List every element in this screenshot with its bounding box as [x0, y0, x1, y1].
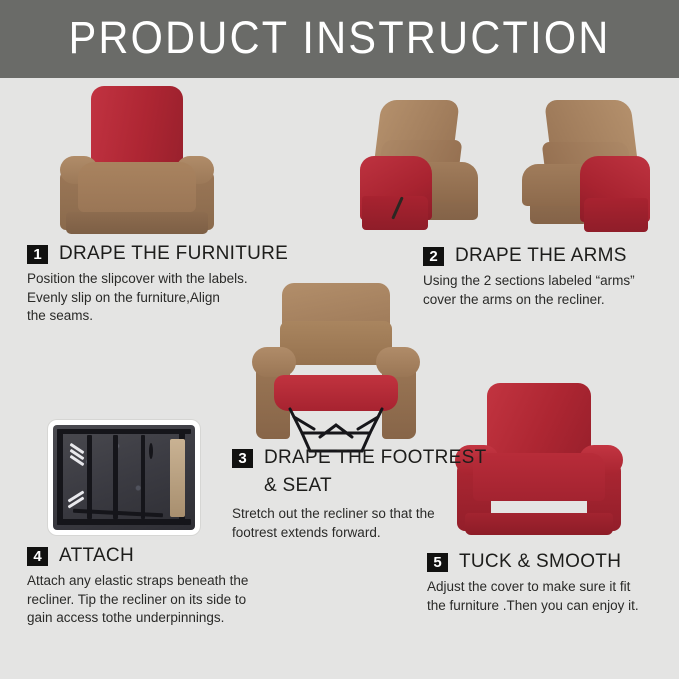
step-title-line2: & SEAT — [264, 475, 502, 497]
recliner-arm-right — [376, 347, 420, 377]
body-line: gain access tothe underpinnings. — [27, 609, 337, 628]
step-4-body: Attach any elastic straps beneath the re… — [27, 572, 337, 628]
step-2-illustration — [360, 100, 660, 235]
body-line: Using the 2 sections labeled “arms” — [423, 272, 673, 291]
frame-bar — [57, 519, 191, 525]
step-3-heading: 3 DRAPE THE FOOTREST — [232, 447, 502, 469]
step-2-body: Using the 2 sections labeled “arms” cove… — [423, 272, 673, 309]
recliner-right — [508, 100, 653, 235]
poster-header: PRODUCT INSTRUCTION — [0, 0, 679, 78]
body-line: the furniture .Then you can enjoy it. — [427, 597, 677, 616]
frame-bar — [87, 435, 92, 519]
red-seat-footrest-cover — [274, 375, 398, 411]
step-3-illustration — [252, 283, 420, 455]
step-title: DRAPE THE FOOTREST — [264, 447, 487, 469]
recliner-arm-left — [252, 347, 296, 377]
red-arm-cover-lower — [584, 198, 648, 232]
recliner-lumbar — [280, 321, 392, 365]
body-line: footrest extends forward. — [232, 524, 502, 543]
step-title: DRAPE THE FURNITURE — [59, 243, 288, 265]
step-3-block: 3 DRAPE THE FOOTREST & SEAT Stretch out … — [232, 447, 502, 542]
frame-bar — [57, 429, 191, 434]
wooden-rail — [170, 439, 185, 517]
step-2-block: 2 DRAPE THE ARMS Using the 2 sections la… — [423, 245, 673, 309]
step-number-badge: 2 — [423, 247, 444, 266]
body-line: Attach any elastic straps beneath the — [27, 572, 337, 591]
step-number-badge: 5 — [427, 553, 448, 572]
body-line: cover the arms on the recliner. — [423, 291, 673, 310]
step-title: DRAPE THE ARMS — [455, 245, 627, 267]
bolt — [149, 443, 153, 459]
body-line: recliner. Tip the recliner on its side t… — [27, 591, 337, 610]
step-5-heading: 5 TUCK & SMOOTH — [427, 551, 677, 573]
step-4-block: 4 ATTACH Attach any elastic straps benea… — [27, 545, 337, 628]
recliner-underside-photo — [53, 425, 195, 530]
frame-bar — [113, 435, 118, 519]
step-5-block: 5 TUCK & SMOOTH Adjust the cover to make… — [427, 551, 677, 615]
step-4-illustration — [48, 420, 200, 535]
body-line: Stretch out the recliner so that the — [232, 505, 502, 524]
step-1-illustration — [60, 86, 214, 236]
frame-bar — [57, 429, 63, 525]
recliner-left — [360, 100, 485, 235]
step-1-heading: 1 DRAPE THE FURNITURE — [27, 243, 357, 265]
recliner-base — [66, 212, 208, 234]
body-line: Adjust the cover to make sure it fit — [427, 578, 677, 597]
step-title: TUCK & SMOOTH — [459, 551, 621, 573]
step-4-heading: 4 ATTACH — [27, 545, 337, 567]
frame-bar — [141, 435, 145, 519]
step-5-body: Adjust the cover to make sure it fit the… — [427, 578, 677, 615]
page-title: PRODUCT INSTRUCTION — [68, 12, 610, 67]
step-number-badge: 3 — [232, 449, 253, 468]
step-number-badge: 1 — [27, 245, 48, 264]
step-title: ATTACH — [59, 545, 134, 567]
recliner-seat — [78, 162, 196, 212]
step-3-body: Stretch out the recliner so that the foo… — [232, 505, 502, 542]
step-2-heading: 2 DRAPE THE ARMS — [423, 245, 673, 267]
instruction-poster: PRODUCT INSTRUCTION — [0, 0, 679, 679]
step-number-badge: 4 — [27, 547, 48, 566]
